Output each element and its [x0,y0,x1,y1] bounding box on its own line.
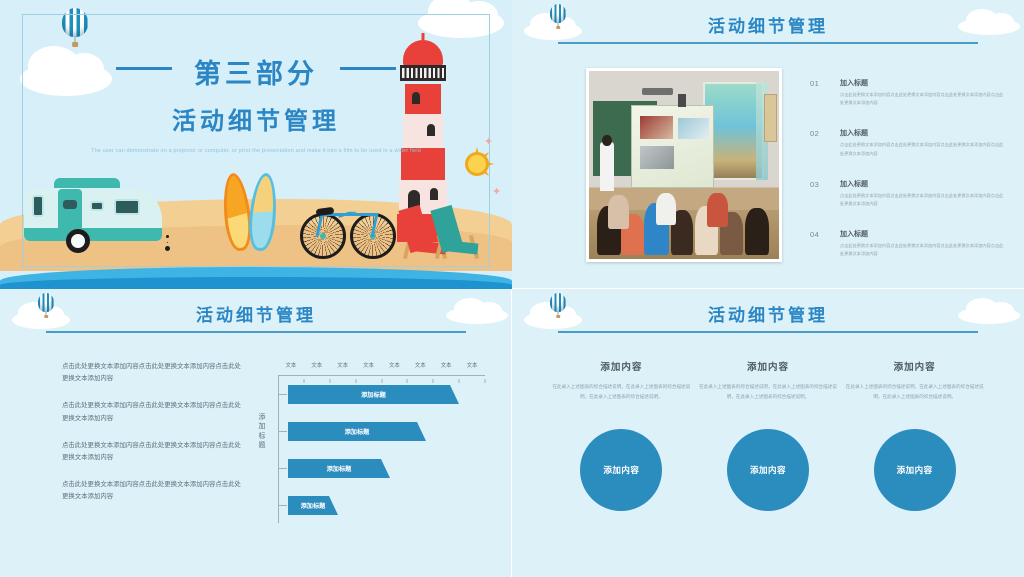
chart-bar[interactable]: 添加标题 [288,422,426,441]
item-number: 04 [810,230,819,239]
column-group: 添加内容 在此录入上述图表的综合描述说明，在此录入上述图表的综合描述说明，在此录… [548,359,988,511]
item-title: 加入标题 [840,229,1006,239]
deck-chair-illustration [432,207,480,259]
item-number: 02 [810,129,819,138]
chart-bar[interactable]: 添加标题 [288,385,459,404]
list-item[interactable]: 01 加入标题 点击此处更换文本添加内容点击此处更换文本添加内容点击此处更换文本… [810,78,1006,107]
caravan-illustration [24,181,162,253]
item-body: 点击此处更换文本添加内容点击此处更换文本添加内容点击此处更换文本添加内容点击此处… [840,91,1006,107]
part-label: 第三部分 [194,52,318,91]
column-body: 在此录入上述图表的综合描述说明，在此录入上述图表的综合描述说明，在此录入上述图表… [695,382,842,401]
chart-axis-line [278,375,485,376]
item-number: 01 [810,79,819,88]
column-heading: 添加内容 [548,359,695,373]
item-body: 点击此处更换文本添加内容点击此处更换文本添加内容点击此处更换文本添加内容点击此处… [840,192,1006,208]
item-title: 加入标题 [840,78,1006,88]
x-tick-label: 文本 [311,361,322,369]
item-body: 点击此处更换文本添加内容点击此处更换文本添加内容点击此处更换文本添加内容点击此处… [840,141,1006,157]
paragraph: 点击此处更换文本添加内容点击此处更换文本添加内容点击此处更换文本添加内容 [62,479,242,503]
title-dash-left [116,67,172,70]
slide-deck: ✦ ✦ ✦ [0,0,1024,577]
slide-columns[interactable]: 活动细节管理 添加内容 在此录入上述图表的综合描述说明，在此录入上述图表的综合描… [512,289,1024,577]
title-heading-group: 第三部分 活动细节管理 The user can demonstrate on … [0,52,512,156]
title-dash-right [340,67,396,70]
header-rule [46,331,466,333]
x-tick-label: 文本 [389,361,400,369]
chart-y-bracket [278,375,288,523]
slide-header: 活动细节管理 [512,0,1024,56]
content-column[interactable]: 添加内容 在此录入上述图表的综合描述说明，在此录入上述图表的综合描述说明，在此录… [841,359,988,511]
content-column[interactable]: 添加内容 在此录入上述图表的综合描述说明，在此录入上述图表的综合描述说明，在此录… [548,359,695,511]
x-tick-label: 文本 [337,361,348,369]
chart-bar[interactable]: 添加标题 [288,459,390,478]
slide-chart[interactable]: 活动细节管理 点击此处更换文本添加内容点击此处更换文本添加内容点击此处更换文本添… [0,289,512,577]
list-item[interactable]: 02 加入标题 点击此处更换文本添加内容点击此处更换文本添加内容点击此处更换文本… [810,128,1006,157]
numbered-list: 01 加入标题 点击此处更换文本添加内容点击此处更换文本添加内容点击此处更换文本… [810,78,1006,280]
column-circle[interactable]: 添加内容 [874,429,956,511]
column-circle[interactable]: 添加内容 [580,429,662,511]
chart-y-axis-label: 添加标题 [256,413,268,451]
classroom-photo [586,68,782,262]
chart-bar[interactable]: 添加标题 [288,496,338,515]
list-item[interactable]: 03 加入标题 点击此处更换文本添加内容点击此处更换文本添加内容点击此处更换文本… [810,179,1006,208]
paragraph: 点击此处更换文本添加内容点击此处更换文本添加内容点击此处更换文本添加内容 [62,361,242,385]
column-heading: 添加内容 [841,359,988,373]
header-rule [558,42,978,44]
sea-shape-front [0,277,512,289]
slide-title-text: 活动细节管理 [512,301,1024,326]
content-column[interactable]: 添加内容 在此录入上述图表的综合描述说明，在此录入上述图表的综合描述说明，在此录… [695,359,842,511]
item-number: 03 [810,180,819,189]
slide-header: 活动细节管理 [0,289,512,345]
item-title: 加入标题 [840,179,1006,189]
sparkle-icon: ✦ [492,185,501,198]
paragraph: 点击此处更换文本添加内容点击此处更换文本添加内容点击此处更换文本添加内容 [62,400,242,424]
paragraph-list: 点击此处更换文本添加内容点击此处更换文本添加内容点击此处更换文本添加内容 点击此… [62,361,242,518]
column-body: 在此录入上述图表的综合描述说明，在此录入上述图表的综合描述说明，在此录入上述图表… [548,382,695,401]
x-tick-label: 文本 [441,361,452,369]
column-circle[interactable]: 添加内容 [727,429,809,511]
list-item[interactable]: 04 加入标题 点击此处更换文本添加内容点击此处更换文本添加内容点击此处更换文本… [810,229,1006,258]
item-title: 加入标题 [840,128,1006,138]
slide-title-text: 活动细节管理 [0,301,512,326]
page-title: 活动细节管理 [0,101,512,136]
header-rule [558,331,978,333]
slide-title-text: 活动细节管理 [512,12,1024,37]
bicycle-illustration [300,197,396,259]
x-tick-label: 文本 [467,361,478,369]
slide-title[interactable]: ✦ ✦ ✦ [0,0,512,289]
slide-photo-list[interactable]: 活动细节管理 01 加入标题 [512,0,1024,289]
paragraph: 点击此处更换文本添加内容点击此处更换文本添加内容点击此处更换文本添加内容 [62,440,242,464]
chart-x-axis-ticks: 文本 文本 文本 文本 文本 文本 文本 文本 [278,361,485,375]
horizontal-bar-chart: 文本 文本 文本 文本 文本 文本 文本 文本 添加标题 添加标题 添加标题 添… [250,357,485,537]
x-tick-label: 文本 [415,361,426,369]
x-tick-label: 文本 [363,361,374,369]
column-heading: 添加内容 [695,359,842,373]
slide-header: 活动细节管理 [512,289,1024,345]
column-body: 在此录入上述图表的综合描述说明，在此录入上述图表的综合描述说明，在此录入上述图表… [841,382,988,401]
title-description: The user can demonstrate on a projector … [0,146,512,156]
x-tick-label: 文本 [286,361,297,369]
item-body: 点击此处更换文本添加内容点击此处更换文本添加内容点击此处更换文本添加内容点击此处… [840,242,1006,258]
